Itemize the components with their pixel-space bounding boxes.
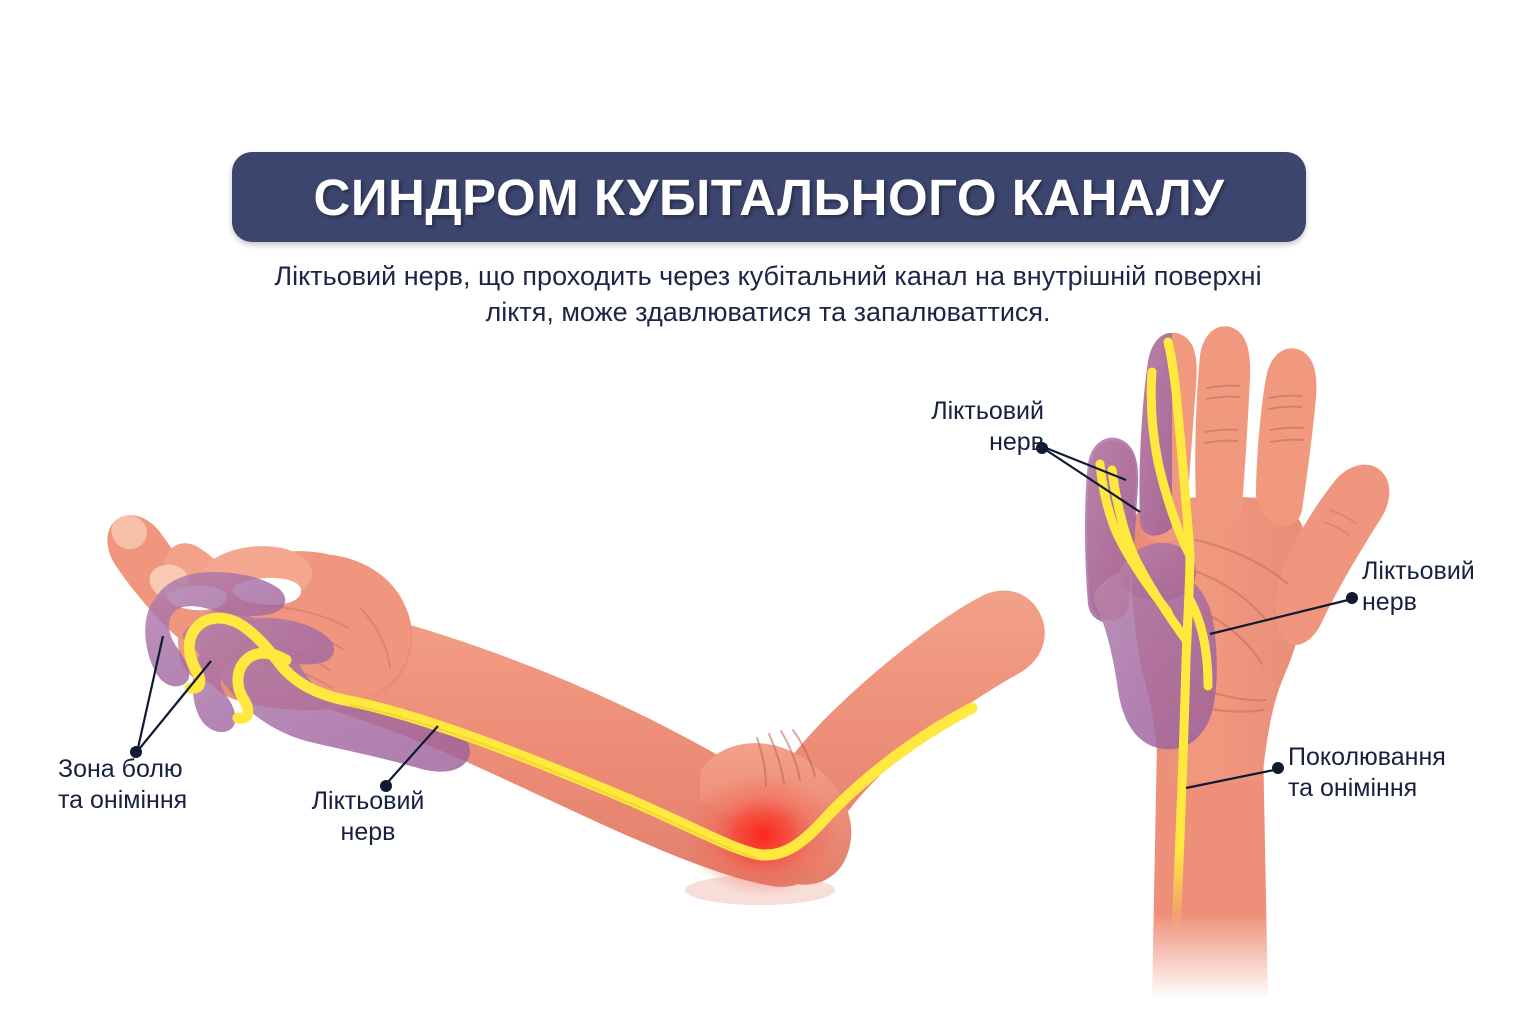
label-pain-numbness-zone: Зона болю та оніміння <box>58 754 258 815</box>
page-title: СИНДРОМ КУБІТАЛЬНОГО КАНАЛУ <box>314 168 1225 227</box>
label-ulnar-nerve-forearm: Ліктьовий нерв <box>278 786 458 847</box>
leader-dot-ulnar-right <box>1346 592 1358 604</box>
right-index-finger <box>1256 348 1316 526</box>
title-banner: СИНДРОМ КУБІТАЛЬНОГО КАНАЛУ <box>232 152 1306 242</box>
intro-paragraph: Ліктьовий нерв, що проходить через кубіт… <box>268 258 1268 331</box>
label-tingling-numbness: Поколювання та оніміння <box>1288 742 1498 803</box>
leader-dot-tingling <box>1272 762 1284 774</box>
right-open-hand-group <box>1085 326 1389 1000</box>
left-bent-arm-group <box>107 515 1044 905</box>
label-ulnar-nerve-hand-right: Ліктьовий нерв <box>1362 556 1536 617</box>
label-ulnar-nerve-hand-top: Ліктьовий нерв <box>872 396 1044 457</box>
infographic-root: СИНДРОМ КУБІТАЛЬНОГО КАНАЛУ Ліктьовий не… <box>0 0 1536 1024</box>
right-middle-finger <box>1195 326 1250 526</box>
